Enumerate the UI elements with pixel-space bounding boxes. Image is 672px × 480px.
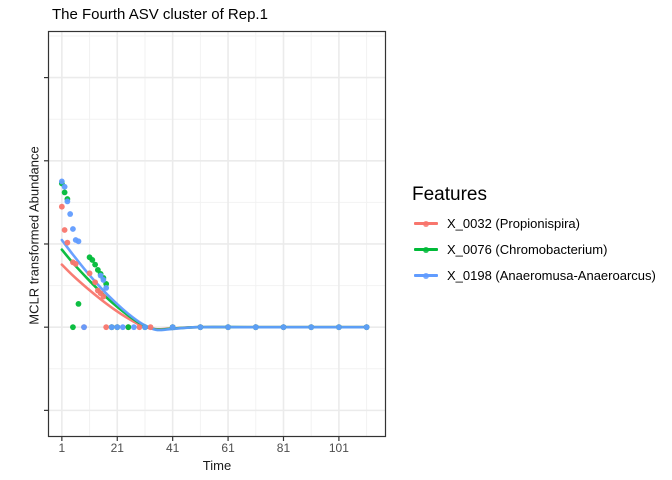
data-point <box>76 301 82 307</box>
legend-key-icon <box>412 214 440 232</box>
legend-title: Features <box>412 184 487 206</box>
legend-item-2[interactable]: X_0198 (Anaeromusa-Anaeroarcus) <box>412 264 656 286</box>
x-tick-label: 1 <box>42 441 82 455</box>
legend-key-icon <box>412 240 440 258</box>
data-point <box>114 324 120 330</box>
data-point <box>87 270 93 276</box>
data-point <box>137 324 143 330</box>
data-point <box>125 324 131 330</box>
legend-item-0[interactable]: X_0032 (Propionispira) <box>412 212 580 234</box>
data-point <box>103 324 109 330</box>
x-tick-label: 41 <box>153 441 193 455</box>
legend-item-label: X_0032 (Propionispira) <box>447 216 580 231</box>
data-point <box>59 204 65 210</box>
data-point <box>148 324 154 330</box>
data-point <box>225 324 231 330</box>
x-tick-label: 61 <box>208 441 248 455</box>
data-point <box>62 190 68 196</box>
data-point <box>109 324 115 330</box>
data-point <box>67 211 73 217</box>
data-point <box>92 279 98 285</box>
data-point <box>70 324 76 330</box>
data-point <box>253 324 259 330</box>
legend-item-label: X_0076 (Chromobacterium) <box>447 242 607 257</box>
data-point <box>101 277 107 283</box>
data-point <box>62 227 68 233</box>
panel-background <box>48 31 386 437</box>
data-point <box>197 324 203 330</box>
x-tick-label: 21 <box>97 441 137 455</box>
data-point <box>64 198 70 204</box>
data-point <box>62 184 68 190</box>
legend-item-1[interactable]: X_0076 (Chromobacterium) <box>412 238 607 260</box>
data-point <box>92 262 98 268</box>
data-point <box>64 240 70 246</box>
data-point <box>76 238 82 244</box>
data-point <box>59 179 65 185</box>
data-point <box>308 324 314 330</box>
chart-container: The Fourth ASV cluster of Rep.1 MCLR tra… <box>0 0 672 480</box>
data-point <box>170 324 176 330</box>
data-point <box>131 324 137 330</box>
x-tick-label: 101 <box>319 441 359 455</box>
legend-key-icon <box>412 266 440 284</box>
data-point <box>73 261 79 267</box>
data-point <box>142 324 148 330</box>
data-point <box>336 324 342 330</box>
data-point <box>120 324 126 330</box>
x-tick-label: 81 <box>263 441 303 455</box>
data-point <box>81 324 87 330</box>
data-point <box>70 226 76 232</box>
data-point <box>101 294 107 300</box>
data-point <box>281 324 287 330</box>
data-point <box>103 285 109 291</box>
legend-item-label: X_0198 (Anaeromusa-Anaeroarcus) <box>447 268 656 283</box>
data-point <box>364 324 370 330</box>
